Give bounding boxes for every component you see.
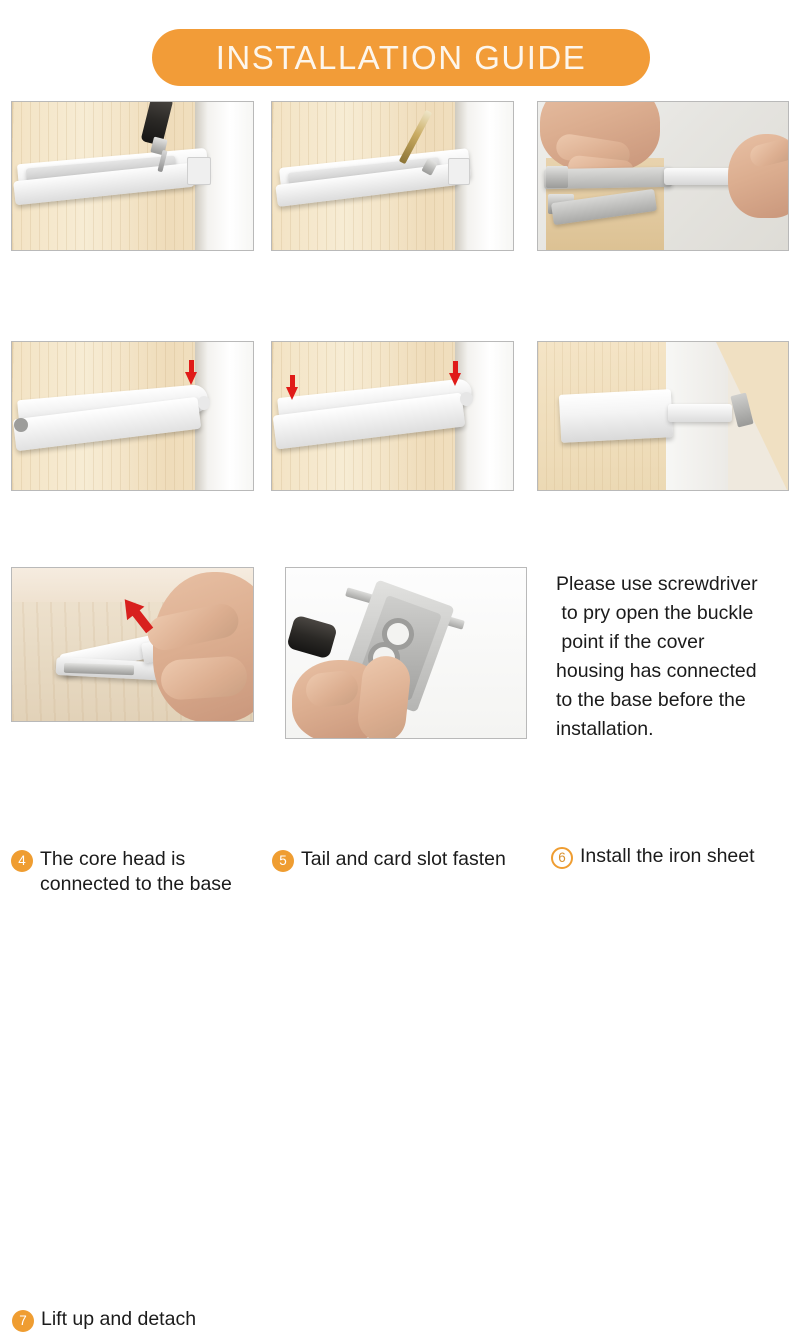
step-7-photo bbox=[11, 567, 254, 722]
step-4-caption: 4 The core head is connected to the base bbox=[11, 847, 251, 897]
note-paragraph: Please use screwdriver to pry open the b… bbox=[556, 570, 796, 744]
step-6-photo bbox=[537, 341, 789, 491]
step-5-label: Tail and card slot fasten bbox=[301, 847, 506, 872]
step-7-label: Lift up and detach bbox=[41, 1307, 196, 1332]
step-badge-4: 4 bbox=[11, 850, 33, 872]
step-4-label-line-1: The core head is bbox=[40, 847, 232, 872]
step-5-photo bbox=[271, 341, 514, 491]
step-2-photo bbox=[271, 101, 514, 251]
note-line-6: installation. bbox=[556, 715, 796, 744]
header-banner: INSTALLATION GUIDE bbox=[152, 29, 650, 86]
step-badge-5: 5 bbox=[272, 850, 294, 872]
note-line-2: to pry open the buckle bbox=[556, 599, 796, 628]
step-badge-6: 6 bbox=[551, 847, 573, 869]
page-title: INSTALLATION GUIDE bbox=[216, 41, 587, 74]
note-line-5: to the base before the bbox=[556, 686, 796, 715]
step-4-label: The core head is connected to the base bbox=[40, 847, 232, 897]
step-6-caption: 6 Install the iron sheet bbox=[551, 844, 796, 869]
step-4-label-line-2: connected to the base bbox=[40, 872, 232, 897]
step-6-label: Install the iron sheet bbox=[580, 844, 755, 869]
note-line-1: Please use screwdriver bbox=[556, 570, 796, 599]
note-line-3: point if the cover bbox=[556, 628, 796, 657]
step-3-photo bbox=[537, 101, 789, 251]
step-badge-7: 7 bbox=[12, 1310, 34, 1332]
step-5-caption: 5 Tail and card slot fasten bbox=[272, 847, 522, 872]
step-7-caption: 7 Lift up and detach bbox=[12, 1307, 196, 1332]
step-4-photo bbox=[11, 341, 254, 491]
note-line-4: housing has connected bbox=[556, 657, 796, 686]
step-1-photo bbox=[11, 101, 254, 251]
note-photo bbox=[285, 567, 527, 739]
header: INSTALLATION GUIDE bbox=[0, 0, 800, 98]
